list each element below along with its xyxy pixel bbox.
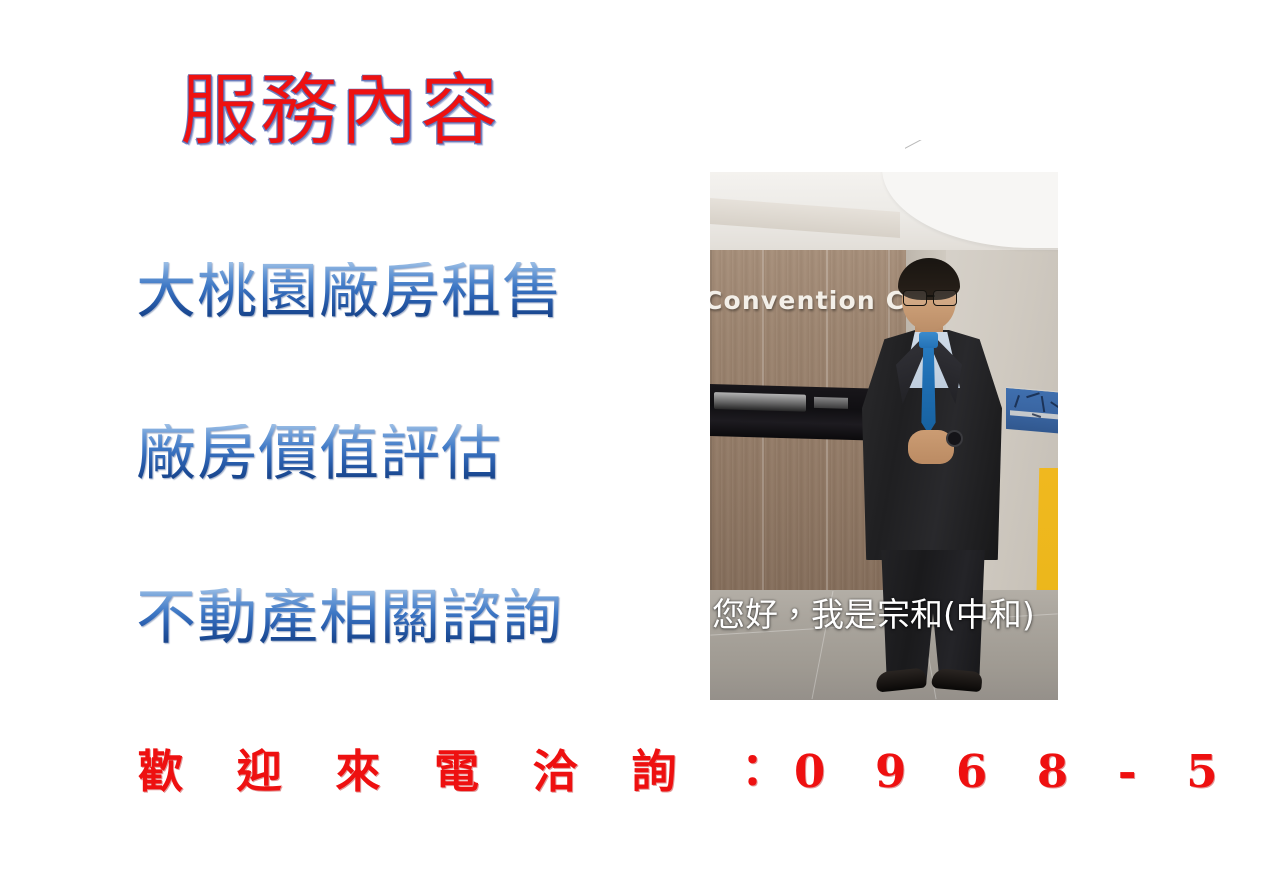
page-title: 服務內容 [180,72,500,150]
service-item-3: 不動產相關諮詢 [136,588,563,648]
diagonal-line-artifact [905,140,945,162]
phone-number[interactable]: 0 9 6 8 - 5 1 9 - 8 8 8 [794,745,1263,798]
plaque-scribble [1026,392,1040,398]
glasses-bridge [926,295,935,297]
photo-caption: 您好，我是宗和(中和) [712,598,1035,631]
plaque-scribble [1014,395,1020,408]
ceiling-edge [710,198,900,238]
glasses-icon [902,290,958,305]
slide-canvas: 服務內容 大桃園廠房租售 廠房價值評估 不動產相關諮詢 Convention C… [0,0,1263,891]
counter-reflection [814,397,848,409]
dress-shoe-right [931,668,983,692]
contact-line: 歡 迎 來 電 洽 詢 ：0 9 6 8 - 5 1 9 - 8 8 8 [138,748,1263,795]
necktie-knot [919,332,938,348]
service-item-2: 廠房價值評估 [136,424,502,484]
convention-center-sign: Convention Ce [710,286,923,315]
plaque-scribble [1041,396,1045,412]
agent-photo: Convention Ce [710,172,1058,700]
service-item-1: 大桃園廠房租售 [136,262,563,322]
wristwatch [946,430,963,447]
plaque-scribble [1050,401,1058,409]
contact-prompt: 歡 迎 來 電 洽 詢 ： [138,745,794,798]
counter-reflection [714,392,806,412]
blue-wall-plaque [1006,387,1058,435]
